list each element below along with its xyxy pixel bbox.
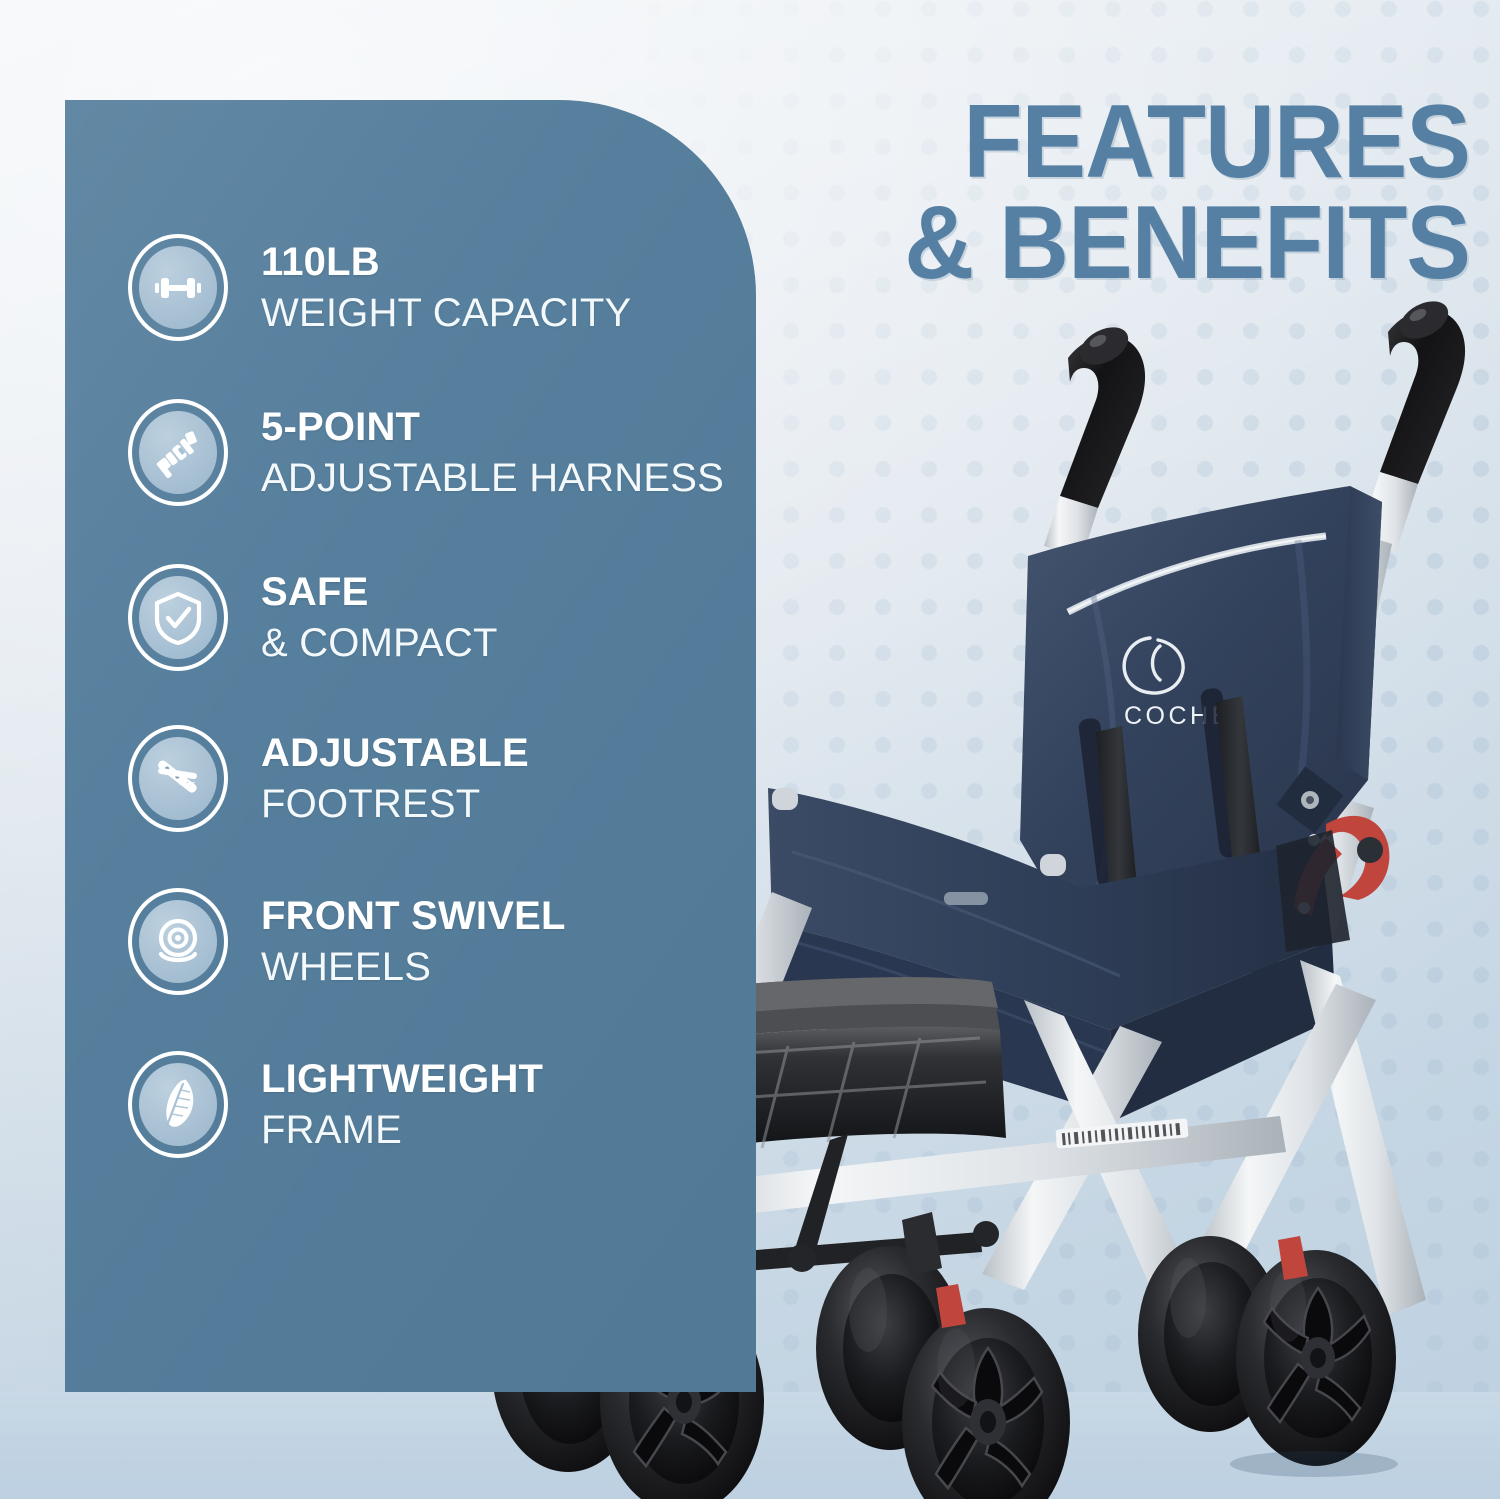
feature-subtitle: FRAME	[261, 1110, 543, 1150]
seatbelt-icon	[125, 396, 231, 509]
wheel	[1236, 1250, 1396, 1466]
feature-item-lightweight-frame[interactable]: LIGHTWEIGHT FRAME	[125, 1048, 755, 1161]
feature-subtitle: & COMPACT	[261, 623, 498, 663]
infographic-canvas: FEATURES & BENEFITS	[0, 0, 1500, 1499]
feature-item-harness[interactable]: 5-POINT ADJUSTABLE HARNESS	[125, 396, 755, 509]
feature-item-safe-compact[interactable]: SAFE & COMPACT	[125, 561, 755, 674]
features-panel: 110LB WEIGHT CAPACITY	[65, 100, 756, 1392]
feature-title: FRONT SWIVEL	[261, 896, 566, 936]
feature-title: ADJUSTABLE	[261, 733, 529, 773]
swivel-wheel-icon	[125, 885, 231, 998]
feature-list: 110LB WEIGHT CAPACITY	[65, 100, 756, 1392]
footrest-icon	[125, 722, 231, 835]
feature-text: 110LB WEIGHT CAPACITY	[261, 242, 631, 333]
feature-title: SAFE	[261, 572, 498, 612]
feature-text: SAFE & COMPACT	[261, 572, 498, 663]
feature-item-weight-capacity[interactable]: 110LB WEIGHT CAPACITY	[125, 231, 755, 344]
feature-subtitle: FOOTREST	[261, 784, 529, 824]
feature-subtitle: ADJUSTABLE HARNESS	[261, 458, 724, 498]
feature-subtitle: WEIGHT CAPACITY	[261, 293, 631, 333]
feature-text: LIGHTWEIGHT FRAME	[261, 1059, 543, 1150]
feature-subtitle: WHEELS	[261, 947, 566, 987]
feature-text: 5-POINT ADJUSTABLE HARNESS	[261, 407, 724, 498]
feather-icon	[125, 1048, 231, 1161]
wheel-group-rear	[1138, 1236, 1396, 1466]
page-title-line-1: FEATURES	[819, 92, 1470, 193]
feature-text: FRONT SWIVEL WHEELS	[261, 896, 566, 987]
feature-text: ADJUSTABLE FOOTREST	[261, 733, 529, 824]
feature-title: 5-POINT	[261, 407, 724, 447]
stroller-handle-left	[1044, 320, 1145, 558]
feature-title: 110LB	[261, 242, 631, 282]
dumbbell-icon	[125, 231, 231, 344]
feature-item-swivel-wheels[interactable]: FRONT SWIVEL WHEELS	[125, 885, 755, 998]
feature-item-footrest[interactable]: ADJUSTABLE FOOTREST	[125, 722, 755, 835]
feature-title: LIGHTWEIGHT	[261, 1059, 543, 1099]
shield-check-icon	[125, 561, 231, 674]
